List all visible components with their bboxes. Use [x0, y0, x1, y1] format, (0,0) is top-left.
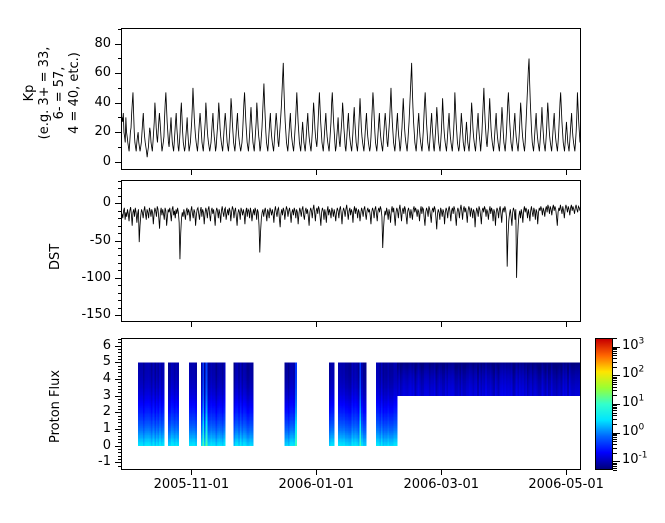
figure-canvas: Kp (e.g. 3+ = 33, 6- = 57, 4 = 40, etc.)…	[0, 0, 665, 523]
